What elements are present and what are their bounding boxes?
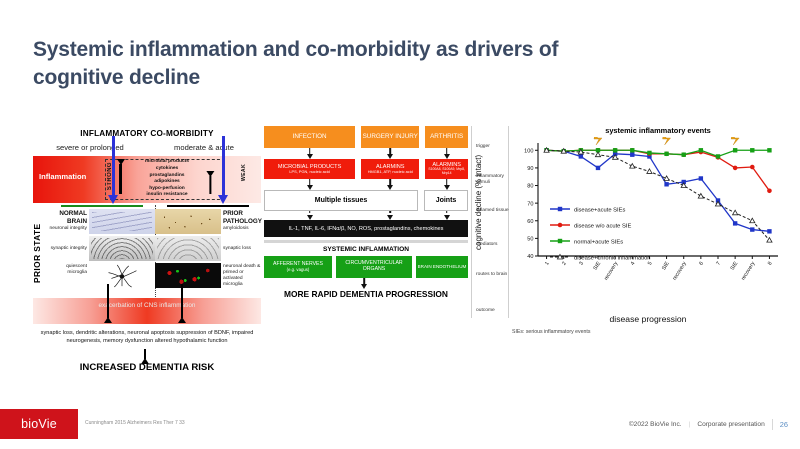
arrow-stimuli-2 — [361, 179, 419, 190]
route-afferent-nerves[interactable]: AFFERENT NERVES (e.g. vagus) — [264, 256, 332, 278]
exacerbation-arrow-left — [107, 284, 109, 318]
prior-pathology-column: PRIOR PATHOLOGY amyloidosis synaptic los… — [155, 205, 261, 297]
mediators-bar: IL-1, TNF, IL-6, IFNα/β, NO, ROS, prosta… — [264, 220, 468, 237]
footer-vertical-rule — [772, 419, 773, 430]
stage-label-routes-to-brain: routes to brain — [476, 272, 507, 278]
synaptic-integrity-image — [89, 236, 155, 261]
blue-arrow-moderate — [222, 136, 225, 196]
svg-text:SIE: SIE — [730, 261, 740, 272]
svg-text:disease+chronic inflammation: disease+chronic inflammation — [574, 255, 651, 261]
arrow-tissue-3 — [425, 211, 468, 220]
left-mid-divider — [471, 126, 472, 318]
svg-text:80: 80 — [527, 184, 533, 190]
route-afferent-nerves-sub: (e.g. vagus) — [287, 268, 310, 273]
routes-row: AFFERENT NERVES (e.g. vagus) CIRCUMVENTR… — [264, 256, 468, 278]
svg-text:disease w/o acute SIE: disease w/o acute SIE — [574, 223, 631, 229]
deck-name: Corporate presentation — [697, 421, 764, 428]
trigger-row: INFECTION SURGERY INJURY ARTHRITIS — [264, 126, 468, 148]
pathology-row-3: neuronal death & primed or activated mic… — [155, 263, 261, 290]
page-title: Systemic inflammation and co-morbidity a… — [33, 36, 633, 91]
svg-text:2: 2 — [561, 261, 568, 267]
arrow-infection — [264, 148, 355, 159]
svg-text:SIE: SIE — [592, 261, 602, 272]
synaptic-loss-image — [155, 236, 221, 261]
svg-text:recovery: recovery — [672, 261, 688, 282]
trigger-arthritis[interactable]: ARTHRITIS — [425, 126, 468, 148]
svg-text:40: 40 — [527, 254, 533, 260]
normal-row-2: synaptic integrity — [49, 236, 155, 263]
brain-columns: NORMAL BRAIN neuronal integrity synaptic… — [49, 205, 261, 297]
stimulus-alarmins-s100-sub: S100A8, S100A9, Mrp8, Mrp14 — [425, 168, 468, 176]
svg-text:100: 100 — [524, 148, 533, 154]
amyloid-histology-image — [155, 209, 221, 234]
systemic-inflammation-flowchart: INFECTION SURGERY INJURY ARTHRITIS MICRO… — [264, 126, 468, 318]
biovie-logo: bioVie — [0, 409, 78, 439]
svg-text:SIE: SIE — [661, 261, 671, 272]
arrow-surgery — [361, 148, 419, 159]
normal-row-3: quiescent microglia — [49, 263, 155, 290]
line-chart-svg: 405060708090100123SIErecovery45SIErecove… — [512, 137, 784, 302]
tissue-row: Multiple tissues Joints — [264, 190, 468, 211]
svg-text:5: 5 — [647, 261, 654, 267]
gray-divider-bar — [264, 240, 468, 243]
mediator-list: microbial products cytokines prostagland… — [121, 159, 213, 198]
svg-text:7: 7 — [716, 261, 723, 267]
risk-arrow-slot — [33, 346, 261, 362]
stimulus-alarmins-s100[interactable]: ALARMINS S100A8, S100A9, Mrp8, Mrp14 — [425, 159, 468, 179]
trigger-arrows — [264, 148, 468, 159]
quiescent-microglia-image — [89, 263, 155, 288]
svg-text:70: 70 — [527, 201, 533, 207]
route-brain-endothelium-title: BRAIN ENDOTHELIUM — [418, 264, 467, 269]
prior-state-comparison: PRIOR STATE NORMAL BRAIN neuronal integr… — [33, 205, 261, 297]
outcome-arrow-head — [361, 284, 367, 289]
page-number: 26 — [780, 420, 788, 429]
normal-row-1: NORMAL BRAIN neuronal integrity — [49, 209, 155, 236]
consequences-text: synaptic loss, dendritic alterations, ne… — [33, 330, 261, 346]
inflammatory-comorbidity-panel: INFLAMMATORY CO-MORBIDITY severe or prol… — [33, 126, 261, 398]
pathology-row-2: synaptic loss — [155, 236, 261, 263]
normal-brain-column: NORMAL BRAIN neuronal integrity synaptic… — [49, 205, 155, 297]
normal-brain-title: NORMAL BRAIN — [49, 210, 87, 225]
inflammation-label: Inflammation — [39, 172, 86, 181]
severity-moderate-label: moderate & acute — [165, 143, 243, 152]
pathology-rule — [167, 205, 249, 207]
chart-footnote: SIEs: serious inflammatory events — [512, 329, 590, 335]
arrow-tissue-2 — [361, 211, 419, 220]
stimulus-alarmins-hmgb1[interactable]: ALARMINS HMGB1, ATP, nucleic acid — [361, 159, 419, 179]
normal-row-3-label: quiescent microglia — [49, 264, 87, 276]
stimuli-row: MICROBIAL PRODUCTS LPS, PGN, nucleic aci… — [264, 159, 468, 179]
stimuli-arrows — [264, 179, 468, 190]
prior-pathology-title: PRIOR PATHOLOGY — [223, 210, 261, 225]
normal-row-1-label: neuronal integrity — [49, 226, 87, 232]
exacerbation-label: exacerbation of CNS inflammation — [33, 298, 261, 310]
chart-title: systemic inflammatory events — [538, 126, 778, 135]
chart-plot-area: 405060708090100123SIErecovery45SIErecove… — [512, 137, 784, 302]
svg-text:50: 50 — [527, 237, 533, 243]
chart-x-axis-label: disease progression — [512, 314, 784, 324]
route-brain-endothelium[interactable]: BRAIN ENDOTHELIUM — [416, 256, 468, 278]
svg-text:recovery: recovery — [740, 261, 756, 282]
inflammation-gradient-band: Inflammation STRONG WEAK microbial produ… — [33, 156, 261, 203]
stimulus-alarmins-hmgb1-sub: HMGB1, ATP, nucleic acid — [368, 170, 413, 174]
chart-y-axis-label: cognitive decline (% intact) — [474, 144, 486, 260]
pathology-row-1: PRIOR PATHOLOGY amyloidosis — [155, 209, 261, 236]
stimulus-microbial-products[interactable]: MICROBIAL PRODUCTS LPS, PGN, nucleic aci… — [264, 159, 355, 179]
pathology-row-1-label: amyloidosis — [223, 226, 261, 232]
stage-label-outcome: outcome — [476, 308, 495, 314]
severity-row: severe or prolonged moderate & acute — [33, 143, 261, 152]
svg-text:3: 3 — [578, 261, 585, 267]
svg-text:1: 1 — [544, 261, 551, 267]
svg-text:normal+acute SIEs: normal+acute SIEs — [574, 239, 623, 245]
microglia-glyph — [89, 263, 155, 288]
arrow-tissue-1 — [264, 211, 355, 220]
outcome-label: MORE RAPID DEMENTIA PROGRESSION — [264, 289, 468, 299]
risk-down-arrow — [144, 349, 146, 359]
weak-label: WEAK — [241, 164, 247, 181]
pathology-row-3-label: neuronal death & primed or activated mic… — [223, 264, 261, 288]
systemic-inflammation-label: SYSTEMIC INFLAMMATION — [264, 246, 468, 253]
normal-brain-histology-image — [89, 209, 155, 234]
svg-text:disease+acute SIEs: disease+acute SIEs — [574, 207, 626, 213]
citation-text: Cunningham 2015 Alzheimers Res Ther 7 33 — [85, 420, 185, 426]
svg-text:90: 90 — [527, 166, 533, 172]
copyright-text: ©2022 BioVie Inc. — [629, 421, 682, 428]
arrow-stimuli-1 — [264, 179, 355, 190]
route-circumventricular-organs-title: CIRCUMVENTRICULAR ORGANS — [336, 261, 412, 273]
chart-panel: trigger inflammatory stimuli inflamed ti… — [476, 126, 786, 331]
prior-state-label: PRIOR STATE — [32, 211, 42, 295]
svg-text:60: 60 — [527, 219, 533, 225]
normal-row-2-label: synaptic integrity — [49, 246, 87, 252]
exacerbation-band: exacerbation of CNS inflammation — [33, 298, 261, 324]
stimulus-microbial-products-sub: LPS, PGN, nucleic acid — [289, 170, 329, 174]
trigger-surgery-injury[interactable]: SURGERY INJURY — [361, 126, 419, 148]
exacerbation-arrow-right — [181, 284, 183, 318]
tissue-multiple-tissues[interactable]: Multiple tissues — [264, 190, 418, 211]
arrow-arthritis — [425, 148, 468, 159]
tissue-joints[interactable]: Joints — [424, 190, 468, 211]
footer-separator: | — [689, 421, 691, 428]
arrow-stimuli-3 — [425, 179, 468, 190]
blue-arrow-severe — [112, 136, 115, 196]
route-circumventricular-organs[interactable]: CIRCUMVENTRICULAR ORGANS — [336, 256, 412, 278]
activated-microglia-fluorescence-image — [155, 263, 221, 288]
svg-text:6: 6 — [698, 261, 705, 267]
svg-text:4: 4 — [630, 261, 637, 267]
svg-text:8: 8 — [767, 261, 774, 267]
severity-severe-label: severe or prolonged — [51, 143, 129, 152]
tissue-arrows — [264, 211, 468, 220]
trigger-infection[interactable]: INFECTION — [264, 126, 355, 148]
svg-text:recovery: recovery — [603, 261, 619, 282]
pathology-row-2-label: synaptic loss — [223, 246, 261, 252]
footer-meta: ©2022 BioVie Inc. | Corporate presentati… — [629, 419, 788, 430]
normal-rule — [61, 205, 143, 207]
left-panel-heading: INFLAMMATORY CO-MORBIDITY — [33, 129, 261, 138]
outcome-arrow-slot — [264, 278, 468, 289]
